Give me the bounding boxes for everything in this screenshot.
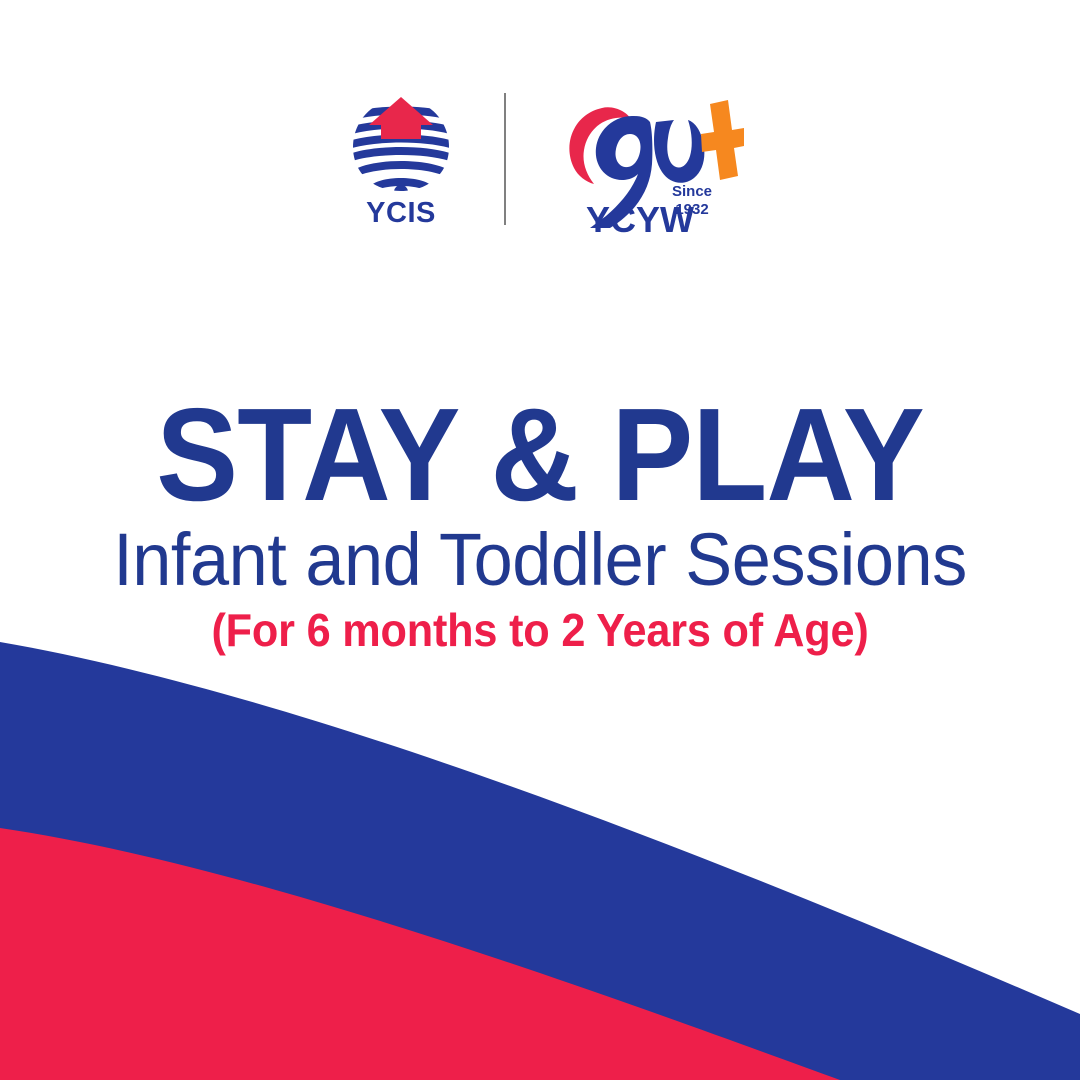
numeral-zero-shape xyxy=(654,120,704,183)
logo-divider xyxy=(504,93,506,225)
graduation-cap-shape xyxy=(369,97,433,139)
since-label: Since xyxy=(672,183,712,200)
page-title: STAY & PLAY xyxy=(38,392,1042,517)
ycyw-90plus-icon: Since 1932 YCYW xyxy=(544,86,744,236)
ycis-globe-icon xyxy=(345,95,457,195)
poster-canvas: YCIS Since 1932 YCYW STAY & PLAY xyxy=(0,0,1080,1080)
wave-svg xyxy=(0,610,1080,1080)
ycyw-wordmark: YCYW xyxy=(586,199,694,236)
plus-sign-shape xyxy=(701,100,744,180)
wave-decoration xyxy=(0,610,1080,1080)
ycis-wordmark: YCIS xyxy=(366,199,436,228)
ycyw-logo[interactable]: Since 1932 YCYW xyxy=(544,86,744,236)
ycis-logo[interactable]: YCIS xyxy=(336,95,466,228)
page-subtitle: Infant and Toddler Sessions xyxy=(27,523,1053,597)
logo-bar: YCIS Since 1932 YCYW xyxy=(0,86,1080,236)
